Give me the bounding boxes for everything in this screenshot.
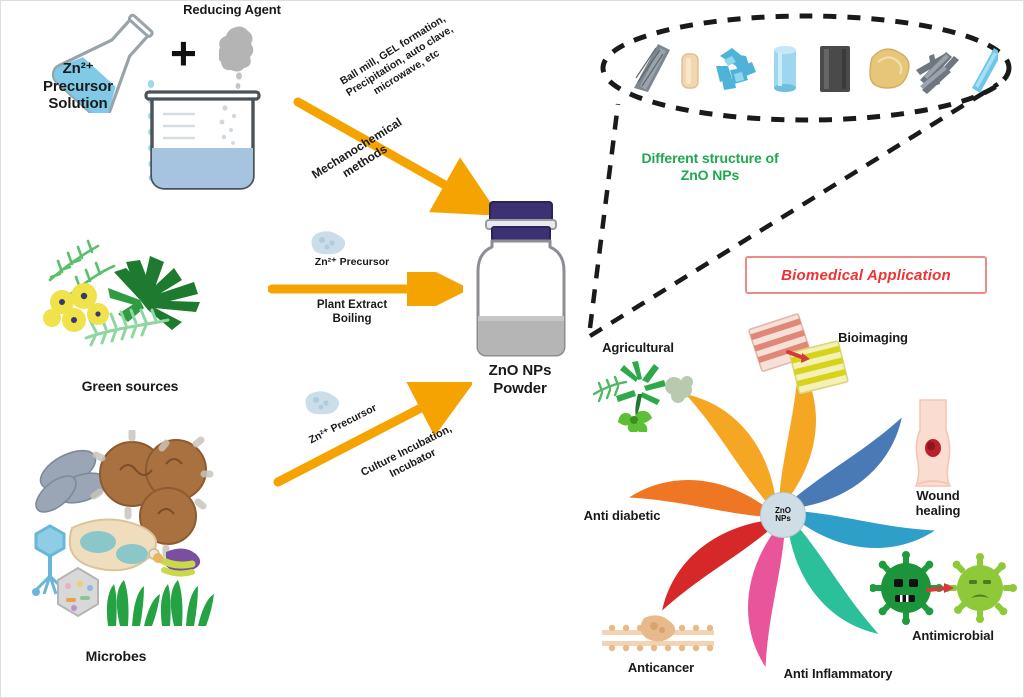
pinwheel-hub: ZnO NPs <box>760 492 806 538</box>
arrow-green-above-label: Zn²⁺ Precursor <box>272 256 432 269</box>
nanoflake-gold <box>870 49 909 88</box>
zinc-precursor-powder-icon-green <box>306 228 350 256</box>
znonps-powder-label: ZnO NPs Powder <box>455 362 585 397</box>
arrow-green-below-label: Plant Extract Boiling <box>272 298 432 327</box>
graphical-abstract-canvas: Zn²⁺ Precursor Solution + Reducing Agent <box>0 0 1024 698</box>
agricultural-icon <box>590 360 700 432</box>
nanoplate-dark <box>820 46 850 92</box>
nanotube-blue <box>774 46 796 92</box>
biomedical-application-heading: Biomedical Application <box>745 256 987 294</box>
anticancer-icon <box>600 614 716 660</box>
zinc-precursor-powder-icon-microbial <box>300 388 344 416</box>
nano-structure-icons <box>628 36 998 102</box>
bioimaging-icon <box>742 312 862 394</box>
green-sources-label: Green sources <box>40 378 220 395</box>
microbes-label: Microbes <box>36 648 196 665</box>
plus-sign: + <box>170 30 197 76</box>
anti-inflammatory-label: Anti Inflammatory <box>758 666 918 681</box>
anti-diabetic-label: Anti diabetic <box>562 508 682 523</box>
virus-light-green <box>929 548 1018 636</box>
antimicrobial-label: Antimicrobial <box>898 628 1008 643</box>
nanowire-cyan <box>972 48 998 93</box>
different-structures-label: Different structure of ZnO NPs <box>600 150 820 183</box>
reducing-agent-label: Reducing Agent <box>152 2 312 17</box>
agricultural-label: Agricultural <box>578 340 698 355</box>
biomedical-application-text: Biomedical Application <box>781 267 951 284</box>
precursor-solution-label: Zn²⁺ Precursor Solution <box>18 60 138 113</box>
microbes-icon <box>16 430 256 640</box>
nanopyramid <box>634 44 670 92</box>
anticancer-label: Anticancer <box>606 660 716 675</box>
wound-healing-icon <box>906 398 960 490</box>
beaker-icon <box>130 86 275 201</box>
bioimaging-label: Bioimaging <box>818 330 928 345</box>
wound-healing-label: Wound healing <box>898 488 978 519</box>
green-sources-icon <box>22 228 242 368</box>
pinwheel-hub-label: ZnO NPs <box>775 507 791 524</box>
nanorod-beige <box>682 54 698 88</box>
nanoflower-aggregate <box>716 48 756 90</box>
antimicrobial-icon <box>870 548 1018 636</box>
